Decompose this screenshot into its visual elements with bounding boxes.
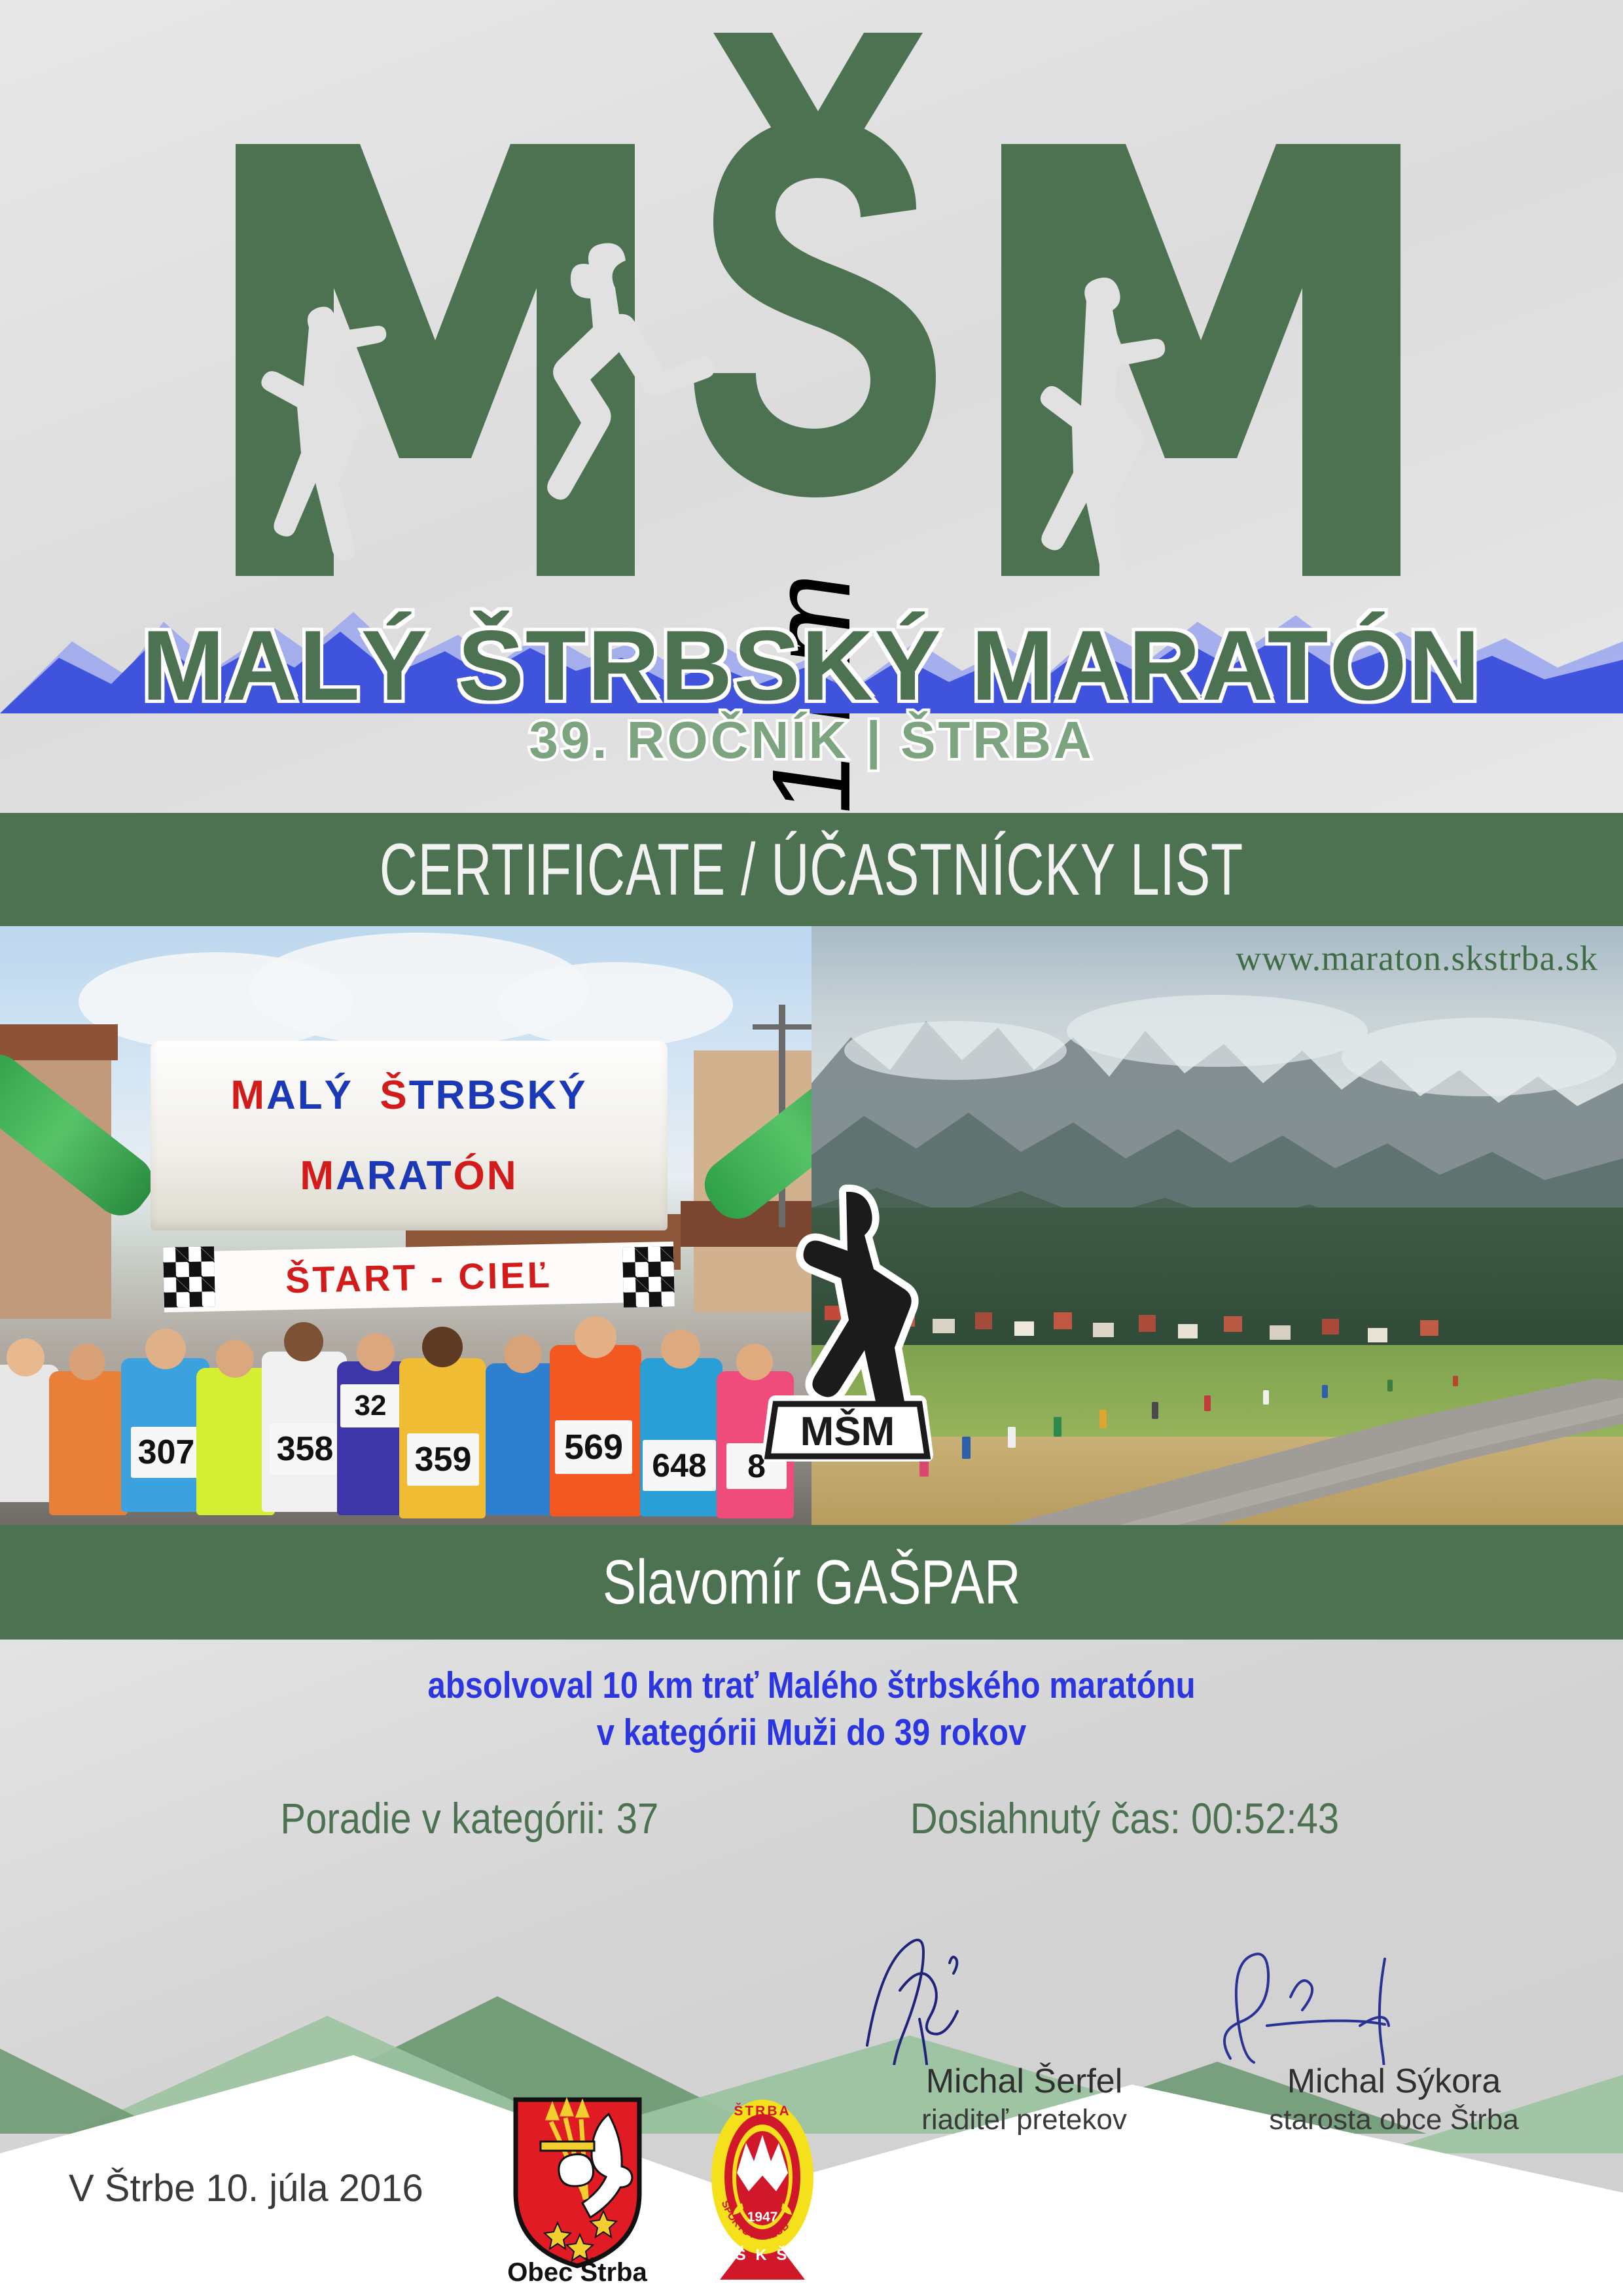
emblem-text: MŠM — [800, 1409, 895, 1454]
runner-marker — [1387, 1380, 1393, 1391]
signature-name: Michal Sýkora — [1191, 2062, 1597, 2101]
runner-bib: 32 — [340, 1384, 401, 1427]
checker-flag-right — [622, 1246, 675, 1308]
village-house — [1270, 1325, 1291, 1340]
village-house — [1368, 1328, 1387, 1342]
runner-marker — [1322, 1385, 1328, 1398]
runner-marker — [1152, 1402, 1158, 1419]
certificate-title-text: CERTIFICATE / ÚČASTNÍCKY LIST — [380, 827, 1243, 912]
obec-strba-crest — [510, 2094, 645, 2271]
runner-head — [7, 1338, 45, 1376]
msm-runner-emblem: MŠM — [736, 1174, 959, 1462]
start-finish-banner: ŠTART - CIEĽ — [163, 1242, 675, 1312]
issue-date: V Štrbe 10. júla 2016 — [69, 2166, 423, 2210]
village-house — [1224, 1316, 1242, 1332]
runner-head — [422, 1327, 463, 1367]
runner-head — [504, 1335, 542, 1373]
arch-text-line-2: MARATÓN — [151, 1153, 668, 1199]
checker-flag-left — [163, 1246, 215, 1308]
village-house — [1014, 1321, 1034, 1336]
village-house — [1093, 1323, 1114, 1337]
runner-bib: 359 — [407, 1433, 479, 1486]
building-roof — [0, 1024, 118, 1060]
certificate-title-banner: CERTIFICATE / ÚČASTNÍCKY LIST — [0, 813, 1623, 926]
msm-monogram — [196, 26, 1440, 576]
pole-crossbar — [753, 1024, 811, 1030]
event-logo: 31 km 10 km — [0, 0, 1623, 813]
certificate-page: 31 km 10 km — [0, 0, 1623, 2296]
signature-ink-director — [821, 1934, 1227, 2065]
signature-ink-mayor — [1191, 1934, 1597, 2065]
runner-bib: 358 — [270, 1424, 340, 1475]
cloud-shape — [497, 962, 733, 1047]
sks-top-text: ŠTRBA — [734, 2103, 791, 2119]
signature-block-director: Michal Šerfel riaditeľ pretekov — [821, 2062, 1227, 2136]
runner-marker — [1204, 1395, 1211, 1411]
description-line-2: v kategórii Muži do 39 rokov — [114, 1710, 1510, 1757]
runner-crowd: 307 358 32 359 569 648 — [0, 1312, 811, 1525]
runner-head — [284, 1322, 323, 1361]
description-line-1: absolvoval 10 km trať Malého štrbského m… — [114, 1662, 1510, 1710]
obec-strba-label: Obec Štrba — [486, 2258, 669, 2287]
website-url: www.maraton.skstrba.sk — [1236, 938, 1598, 978]
runner-head — [575, 1316, 616, 1358]
achieved-time: Dosiahnutý čas: 00:52:43 — [910, 1793, 1339, 1843]
runner-bib: 648 — [643, 1440, 716, 1491]
arch-banner: MALÝ ŠTRBSKÝ MARATÓN — [151, 1041, 668, 1230]
runner-head — [661, 1329, 700, 1369]
village-house — [1178, 1324, 1198, 1338]
sks-year: 1947 — [747, 2210, 778, 2225]
runner-marker — [1263, 1390, 1269, 1405]
village-house — [1054, 1312, 1072, 1329]
signature-block-mayor: Michal Sýkora starosta obce Štrba — [1191, 2062, 1597, 2136]
sks-bottom-text: Š K Š — [736, 2246, 790, 2264]
runner-marker — [1008, 1427, 1016, 1448]
village-house — [1420, 1320, 1438, 1336]
village-house — [975, 1312, 992, 1329]
participant-description: absolvoval 10 km trať Malého štrbského m… — [0, 1662, 1623, 1757]
village-house — [1322, 1319, 1339, 1335]
runner-head — [216, 1340, 254, 1378]
signature-role: starosta obce Štrba — [1191, 2104, 1597, 2136]
village-house — [1139, 1315, 1156, 1332]
runner-marker — [1099, 1410, 1107, 1428]
runner-head — [69, 1344, 105, 1380]
runner-marker — [1453, 1376, 1458, 1386]
sks-strba-crest: ŠTRBA 1947 Š K Š ŠPORTOVÝ KLUB — [694, 2093, 831, 2280]
runner-torso — [640, 1358, 722, 1516]
rank-in-category: Poradie v kategórii: 37 — [281, 1793, 659, 1843]
event-title: MALÝ ŠTRBSKÝ MARATÓN — [0, 609, 1623, 723]
runner-bib: 569 — [555, 1420, 632, 1474]
participant-name-banner: Slavomír GAŠPAR — [0, 1525, 1623, 1640]
signature-role: riaditeľ pretekov — [821, 2104, 1227, 2136]
photo-strip: MALÝ ŠTRBSKÝ MARATÓN ŠTART - CIEĽ 307 — [0, 926, 1623, 1525]
certificate-footer: V Štrbe 10. júla 2016 — [0, 2062, 1623, 2296]
runner-torso — [49, 1371, 128, 1515]
arch-text-line-1: MALÝ ŠTRBSKÝ — [151, 1072, 668, 1119]
signature-name: Michal Šerfel — [821, 2062, 1227, 2101]
runner-bib: 307 — [131, 1427, 202, 1478]
event-subtitle: 39. ROČNÍK | ŠTRBA — [0, 710, 1623, 770]
start-line-photo: MALÝ ŠTRBSKÝ MARATÓN ŠTART - CIEĽ 307 — [0, 926, 811, 1525]
participant-name: Slavomír GAŠPAR — [603, 1547, 1021, 1619]
runner-head — [145, 1329, 186, 1369]
runner-head — [357, 1333, 395, 1371]
runner-marker — [962, 1437, 971, 1459]
runner-marker — [1054, 1417, 1061, 1437]
result-stats: Poradie v kategórii: 37 Dosiahnutý čas: … — [0, 1793, 1623, 1843]
